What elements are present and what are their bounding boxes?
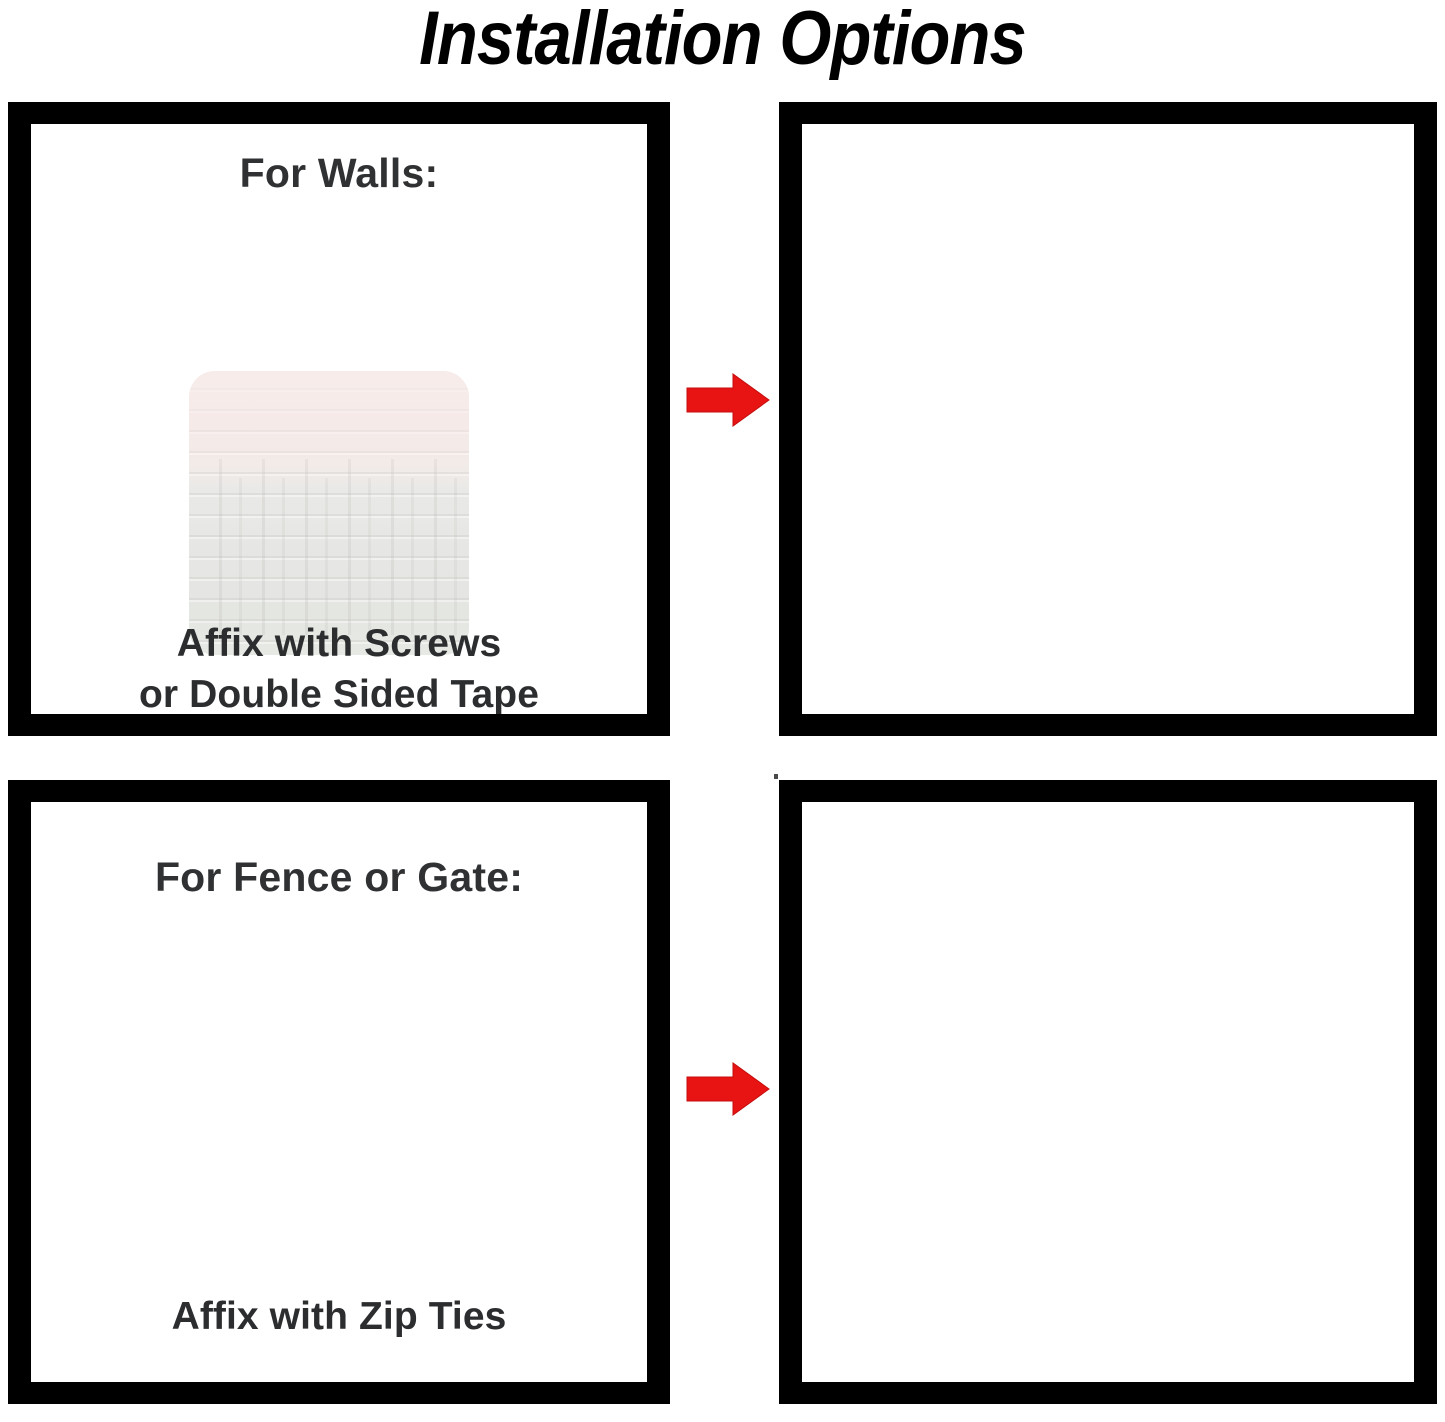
panel-wall-hardware: (Not Included)	[779, 102, 1437, 736]
brick-joints-b	[199, 478, 469, 635]
panel-for-fence-content: For Fence or Gate:	[31, 802, 647, 1382]
page-title: Installation Options	[87, 0, 1359, 81]
image-artifact-dot	[774, 774, 778, 779]
red-right-arrow-icon-top	[685, 371, 771, 429]
white-brick-wall-image	[189, 371, 469, 655]
for-walls-caption-line2: or Double Sided Tape	[31, 670, 647, 714]
panel-fence-hardware: (Not Included)	[779, 780, 1437, 1404]
panel-wall-hardware-content: (Not Included)	[802, 124, 1414, 714]
infographic-page: Installation Options For Walls: Affix wi…	[0, 0, 1445, 1422]
red-right-arrow-icon-bottom	[685, 1060, 771, 1118]
for-fence-caption-line1: Affix with Zip Ties	[31, 1292, 647, 1343]
for-walls-caption: Affix with Screws or Double Sided Tape	[31, 619, 647, 714]
brick-top-wash	[189, 371, 469, 491]
panel-for-walls: For Walls: Affix with Screws or Double S…	[8, 102, 670, 736]
panel-for-fence-or-gate: For Fence or Gate:	[8, 780, 670, 1404]
panel-fence-hardware-content: (Not Included)	[802, 802, 1414, 1382]
for-walls-heading: For Walls:	[31, 150, 647, 197]
panel-for-walls-content: For Walls: Affix with Screws or Double S…	[31, 124, 647, 714]
for-fence-heading: For Fence or Gate:	[31, 854, 647, 901]
for-fence-caption: Affix with Zip Ties	[31, 1292, 647, 1343]
for-walls-caption-line1: Affix with Screws	[31, 619, 647, 670]
